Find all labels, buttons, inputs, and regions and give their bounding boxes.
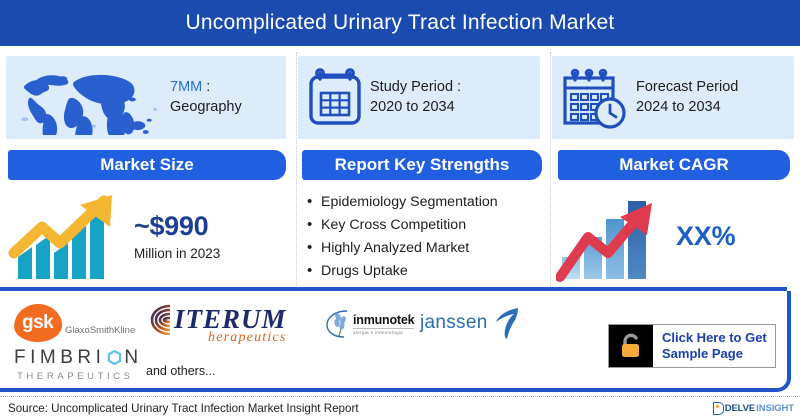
logo-iterum: ITERUM herapeutics (140, 303, 287, 337)
study-period-label: Study Period : (370, 78, 461, 98)
forecast-period-value: 2024 to 2034 (636, 98, 738, 118)
geography-box: 7MM : Geography (6, 56, 286, 139)
study-period-value: 2020 to 2034 (370, 98, 461, 118)
fimbrion-hexagon-icon (107, 350, 122, 365)
gsk-mark-icon: gsk (13, 303, 63, 343)
bar-chart-red-arrow-icon (556, 191, 672, 283)
logo-gsk: gsk GlaxoSmithKline (14, 304, 135, 342)
info-column-geography: 7MM : Geography (0, 50, 292, 145)
fimbrion-subtitle: THERAPEUTICS (14, 371, 143, 382)
mid-content: ~$990 Million in 2023 Epidemiology Segme… (0, 185, 800, 288)
inmunotek-wordmark: inmunotek alergia e inmunologia (353, 313, 414, 335)
list-item: Highly Analyzed Market (306, 237, 498, 260)
info-column-study-period: Study Period : 2020 to 2034 (292, 50, 546, 145)
study-period-box: Study Period : 2020 to 2034 (298, 56, 540, 139)
cta-line-1: Click Here to Get (662, 330, 767, 346)
section-header-bars: Market Size Report Key Strengths Market … (0, 150, 800, 182)
footer: Source: Uncomplicated Urinary Tract Infe… (0, 396, 800, 420)
world-map-icon (14, 61, 164, 135)
info-strip: 7MM : Geography Study Period : (0, 50, 800, 145)
section-header-market-cagr: Market CAGR (558, 150, 790, 180)
calendar-clock-icon (560, 66, 630, 130)
janssen-mark-icon (493, 307, 519, 339)
cta-line-2: Sample Page (662, 346, 767, 362)
market-size-caption: Million in 2023 (134, 246, 220, 261)
iterum-swirl-icon (140, 303, 172, 337)
get-sample-page-button[interactable]: Click Here to Get Sample Page (608, 324, 776, 368)
list-item: Epidemiology Segmentation (306, 191, 498, 214)
logo-fimbrion: FIMBRI N THERAPEUTICS (14, 348, 143, 382)
gsk-mark-label: gsk (22, 312, 53, 334)
info-column-forecast-period: Forecast Period 2024 to 2034 (546, 50, 800, 145)
iterum-subtitle: herapeutics (208, 330, 287, 346)
delveinsight-brand-part1: DELVE (725, 403, 755, 414)
market-size-value: ~$990 (134, 212, 220, 240)
list-item: Key Cross Competition (306, 214, 498, 237)
open-padlock-icon (609, 325, 653, 367)
delveinsight-logo: DELVE INSIGHT (713, 402, 794, 415)
fimbrion-wordmark: FIMBRI N (14, 348, 143, 367)
company-logos-panel: gsk GlaxoSmithKline (0, 291, 791, 392)
market-size-panel: ~$990 Million in 2023 (8, 185, 288, 288)
section-header-key-strengths: Report Key Strengths (302, 150, 542, 180)
delveinsight-d-icon (713, 402, 724, 415)
logo-inmunotek: inmunotek alergia e inmunologia (325, 309, 414, 339)
key-strengths-panel: Epidemiology Segmentation Key Cross Comp… (306, 185, 546, 288)
gsk-name: GlaxoSmithKline (65, 325, 135, 336)
key-strengths-list: Epidemiology Segmentation Key Cross Comp… (306, 191, 498, 283)
delveinsight-brand-part2: INSIGHT (756, 403, 794, 414)
forecast-period-box: Forecast Period 2024 to 2034 (552, 56, 794, 139)
fimbrion-name-part2: N (124, 348, 142, 367)
and-others-label: and others... (146, 364, 216, 378)
page-title: Uncomplicated Urinary Tract Infection Ma… (186, 11, 615, 35)
page-title-bar: Uncomplicated Urinary Tract Infection Ma… (0, 0, 800, 46)
geography-text: 7MM : Geography (170, 78, 278, 117)
source-text: Source: Uncomplicated Urinary Tract Infe… (8, 402, 359, 415)
section-header-market-size: Market Size (8, 150, 286, 180)
market-size-text: ~$990 Million in 2023 (134, 212, 220, 260)
market-cagr-panel: XX% (556, 185, 796, 288)
geography-highlight: 7MM (170, 79, 202, 95)
inmunotek-name: inmunotek (353, 313, 414, 327)
janssen-name: janssen (420, 312, 488, 334)
logo-janssen: janssen (420, 307, 519, 339)
forecast-period-text: Forecast Period 2024 to 2034 (636, 78, 738, 117)
market-cagr-value: XX% (676, 221, 735, 252)
iterum-wordmark: ITERUM herapeutics (174, 307, 287, 333)
calendar-icon (306, 67, 364, 129)
inmunotek-tagline: alergia e inmunologia (353, 328, 414, 335)
fimbrion-name-part1: FIMBRI (14, 348, 105, 367)
inmunotek-mark-icon (325, 309, 351, 339)
list-item: Drugs Uptake (306, 260, 498, 283)
get-sample-page-label: Click Here to Get Sample Page (653, 330, 767, 363)
growth-bar-chart-arrow-icon (8, 191, 126, 283)
infographic-page: Uncomplicated Urinary Tract Infection Ma… (0, 0, 800, 420)
forecast-period-label: Forecast Period (636, 78, 738, 98)
study-period-text: Study Period : 2020 to 2034 (370, 78, 461, 117)
